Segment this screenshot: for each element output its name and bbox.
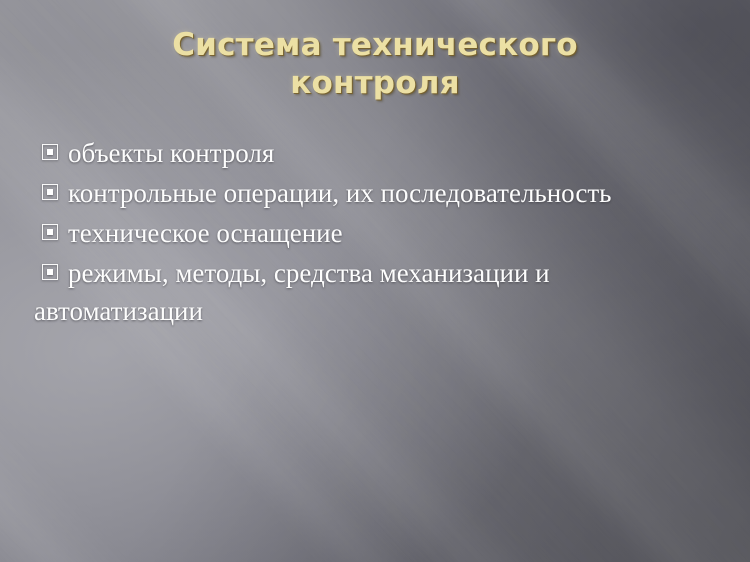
- square-bullet-icon: [42, 224, 58, 240]
- list-item-label: контрольные операции, их последовательно…: [68, 178, 611, 208]
- slide-title: Система технического контроля: [60, 26, 690, 102]
- square-bullet-icon: [42, 264, 58, 280]
- list-item: контрольные операции, их последовательно…: [34, 174, 714, 212]
- list-item: режимы, методы, средства механизации и а…: [34, 254, 714, 330]
- list-item-label: техническое оснащение: [68, 218, 343, 248]
- list-item-label: режимы, методы, средства механизации и а…: [34, 258, 550, 326]
- list-item: объекты контроля: [34, 134, 714, 172]
- square-bullet-icon: [42, 144, 58, 160]
- square-bullet-icon: [42, 184, 58, 200]
- presentation-slide: Система технического контроля объекты ко…: [0, 0, 750, 562]
- list-item-label: объекты контроля: [68, 138, 274, 168]
- bullet-list: объекты контроля контрольные операции, и…: [34, 134, 714, 332]
- list-item: техническое оснащение: [34, 214, 714, 252]
